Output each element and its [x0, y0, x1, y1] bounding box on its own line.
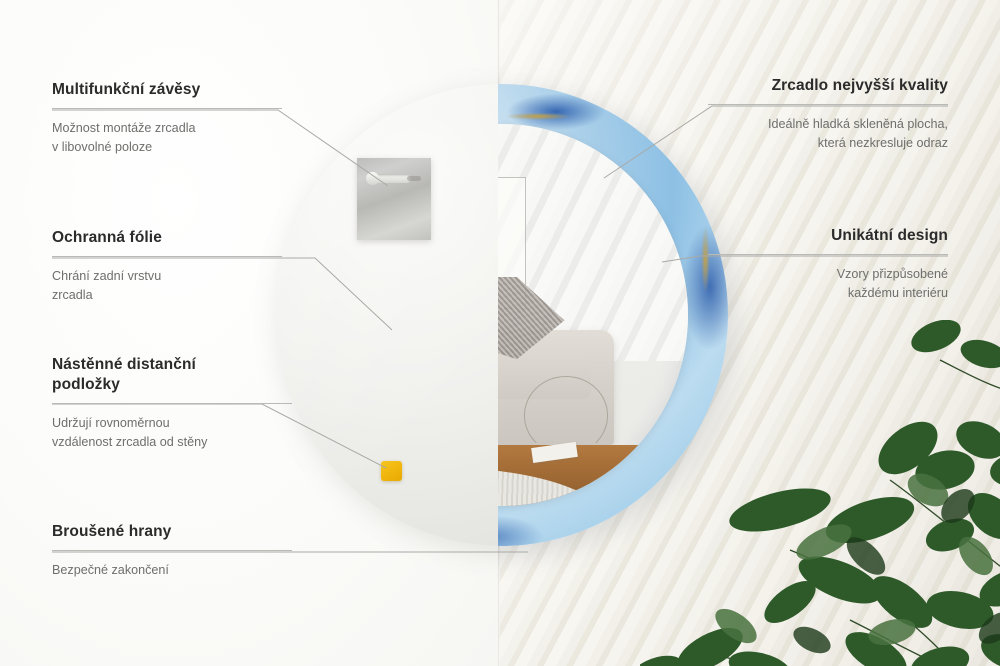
callout-unikatni-design: Unikátní design Vzory přizpůsobené každé… [708, 226, 948, 303]
callout-description: Možnost montáže zrcadla v libovolné polo… [52, 119, 282, 157]
callout-description: Bezpečné zakončení [52, 561, 292, 580]
callout-rule [708, 254, 948, 255]
callout-description: Udržují rovnoměrnou vzdálenost zrcadla o… [52, 414, 292, 452]
callout-title: Nástěnné distanční podložky [52, 355, 292, 395]
callout-rule [52, 403, 292, 404]
callout-brousene-hrany: Broušené hrany Bezpečné zakončení [52, 522, 292, 580]
hanger-slot-secondary [407, 176, 421, 181]
callout-ochranna-folie: Ochranná fólie Chrání zadní vrstvu zrcad… [52, 228, 282, 305]
callout-rule [708, 104, 948, 105]
callout-title: Ochranná fólie [52, 228, 282, 248]
callout-title: Unikátní design [708, 226, 948, 246]
callout-description: Chrání zadní vrstvu zrcadla [52, 267, 282, 305]
wall-spacer-pad [381, 461, 402, 481]
callout-rule [52, 108, 282, 109]
infographic-stage: Multifunkční závěsy Možnost montáže zrca… [0, 0, 1000, 666]
callout-title: Broušené hrany [52, 522, 292, 542]
callout-rule [52, 256, 282, 257]
mirror-glass-reflection [498, 124, 688, 506]
callout-zrcadlo-nejvyssi-kvality: Zrcadlo nejvyšší kvality Ideálně hladká … [708, 76, 948, 153]
mirror-front-disc [498, 84, 728, 546]
callout-multifunkcni-zavesy: Multifunkční závěsy Možnost montáže zrca… [52, 80, 282, 157]
callout-nastenne-distancni-podlozky: Nástěnné distanční podložky Udržují rovn… [52, 355, 292, 451]
callout-rule [52, 550, 292, 551]
hanger-plate [357, 158, 431, 240]
callout-description: Ideálně hladká skleněná plocha, která ne… [708, 115, 948, 153]
callout-title: Multifunkční závěsy [52, 80, 282, 100]
callout-title: Zrcadlo nejvyšší kvality [708, 76, 948, 96]
hanger-keyhole-slot [371, 174, 411, 183]
callout-description: Vzory přizpůsobené každému interiéru [708, 265, 948, 303]
